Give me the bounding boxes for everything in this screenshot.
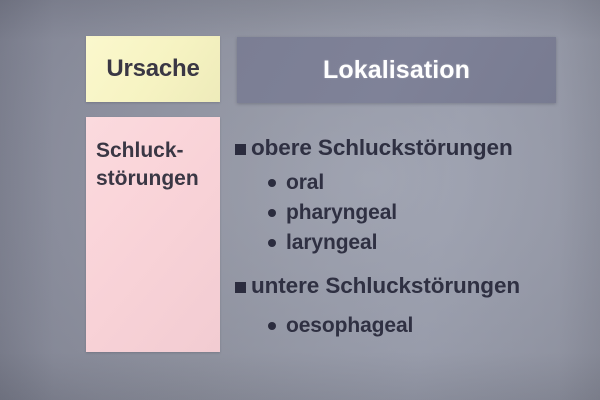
ursache-label: Ursache	[106, 55, 199, 83]
list-item-label: oral	[286, 171, 324, 194]
round-bullet-icon	[268, 322, 276, 330]
lokalisation-label: Lokalisation	[323, 56, 470, 85]
schluckstoerungen-label-line-2: störungen	[96, 165, 220, 193]
list-item-label: laryngeal	[286, 231, 377, 254]
table-header-cell-ursache: Ursache	[86, 36, 220, 102]
table-body-cell-localisation-list: obere Schluckstörungen oral pharyngeal l…	[234, 137, 584, 345]
round-bullet-icon	[268, 209, 276, 217]
list-item-label: oesophageal	[286, 314, 413, 337]
round-bullet-icon	[268, 179, 276, 187]
list-item: untere Schluckstörungen	[234, 275, 584, 298]
table-header-cell-lokalisation: Lokalisation	[237, 37, 556, 103]
list-item: oesophageal	[234, 315, 584, 336]
list-item: laryngeal	[234, 232, 584, 253]
list-item: oral	[234, 172, 584, 193]
schluckstoerungen-label-line-1: Schluck-	[96, 137, 220, 165]
presentation-slide: Ursache Lokalisation Schluck- störungen …	[0, 0, 600, 400]
round-bullet-icon	[268, 239, 276, 247]
square-bullet-icon	[235, 144, 246, 155]
square-bullet-icon	[235, 282, 246, 293]
list-item-label: untere Schluckstörungen	[251, 273, 520, 298]
table-body-cell-schluckstoerungen: Schluck- störungen	[86, 117, 220, 352]
list-item: pharyngeal	[234, 202, 584, 223]
list-item-label: obere Schluckstörungen	[251, 135, 513, 160]
list-item: obere Schluckstörungen	[234, 137, 584, 160]
list-item-label: pharyngeal	[286, 201, 397, 224]
